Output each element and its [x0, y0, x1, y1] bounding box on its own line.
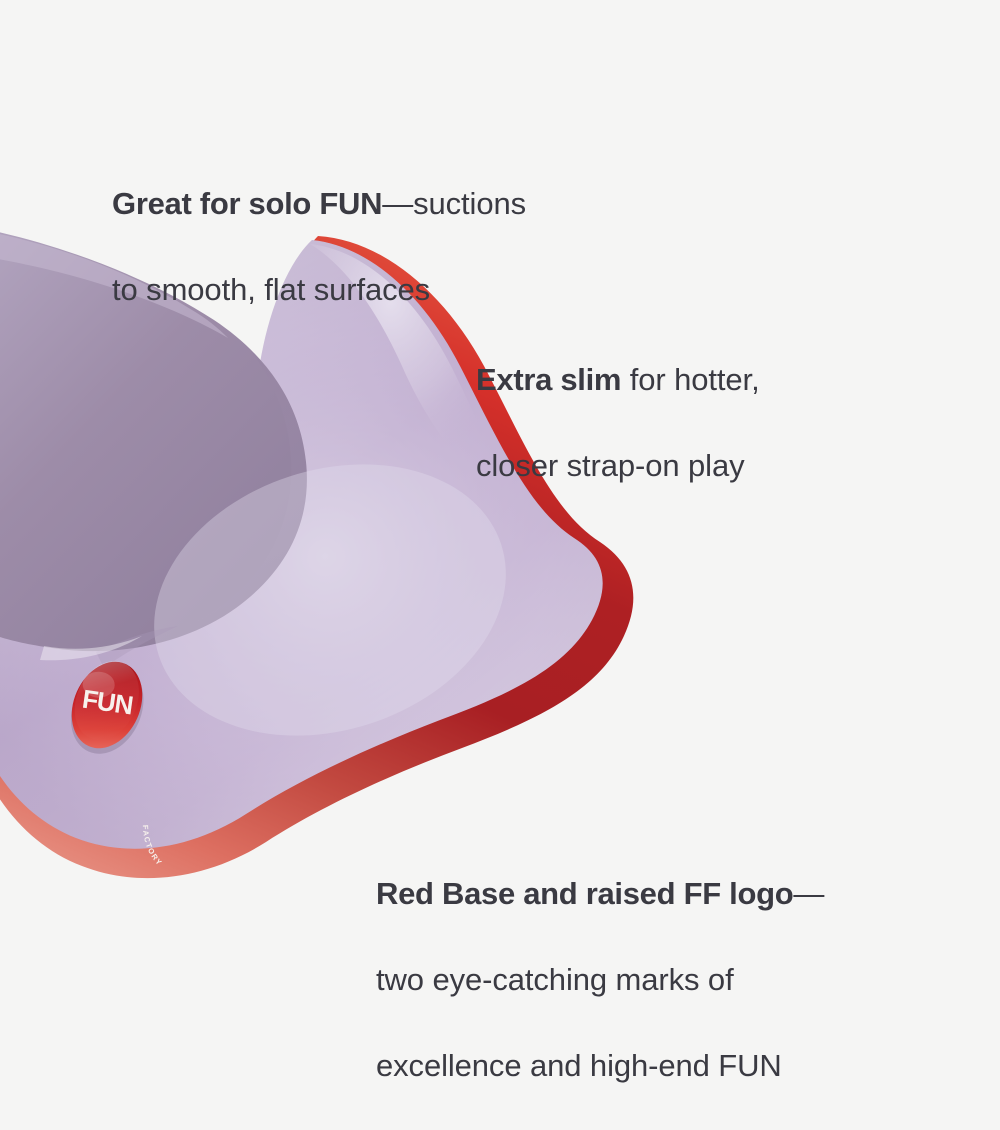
- callout-red-base-line2: two eye-catching marks of: [376, 958, 936, 1001]
- callout-red-base: Red Base and raised FF logo— two eye-cat…: [376, 786, 936, 1130]
- callout-solo-fun-strong: Great for solo FUN: [112, 186, 382, 221]
- callout-solo-fun-rest: —suctions: [382, 186, 526, 221]
- callout-extra-slim-rest: for hotter,: [621, 362, 759, 397]
- callout-extra-slim-strong: Extra slim: [476, 362, 621, 397]
- callout-extra-slim: Extra slim for hotter, closer strap-on p…: [476, 272, 896, 530]
- callout-red-base-strong: Red Base and raised FF logo: [376, 876, 793, 911]
- callout-solo-fun-line1: Great for solo FUN—suctions: [112, 139, 672, 225]
- callout-extra-slim-line1: Extra slim for hotter,: [476, 315, 896, 401]
- callout-red-base-line3: excellence and high-end FUN: [376, 1044, 936, 1087]
- callout-red-base-rest: —: [793, 876, 824, 911]
- callout-red-base-line1: Red Base and raised FF logo—: [376, 829, 936, 915]
- product-feature-graphic: FUN FACTORY Great for solo FUN—suctions …: [0, 0, 1000, 1000]
- callout-extra-slim-line2: closer strap-on play: [476, 444, 896, 487]
